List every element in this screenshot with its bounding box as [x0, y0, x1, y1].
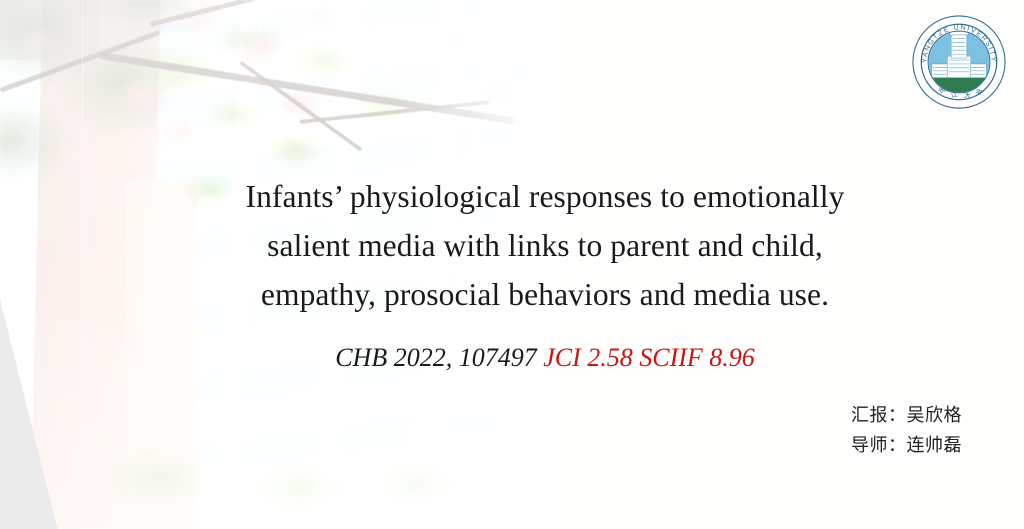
presenter-advisor: 导师：连帅磊: [851, 431, 962, 461]
journal-subtitle: CHB 2022, 107497 JCI 2.58 SCIIF 8.96: [150, 341, 940, 375]
photo-trees: [90, 409, 560, 529]
page-title: Infants’ physiological responses to emot…: [150, 172, 940, 319]
journal-metrics: JCI 2.58 SCIIF 8.96: [543, 343, 755, 372]
journal-citation: CHB 2022, 107497: [335, 343, 537, 372]
title-line-3: empathy, prosocial behaviors and media u…: [150, 270, 940, 319]
title-slide: Infants’ physiological responses to emot…: [0, 0, 1024, 529]
logo-cn-char-2: 江: [950, 90, 958, 99]
logo-cn-char-3: 大: [964, 90, 972, 100]
presenter-reporter: 汇报：吴欣格: [851, 401, 962, 431]
title-line-1: Infants’ physiological responses to emot…: [150, 172, 940, 221]
presenter-block: 汇报：吴欣格 导师：连帅磊: [851, 401, 962, 461]
yangtze-university-logo-icon: YANGTZE UNIVERSITY 长 江 大 学: [910, 13, 1008, 111]
title-line-2: salient media with links to parent and c…: [150, 221, 940, 270]
